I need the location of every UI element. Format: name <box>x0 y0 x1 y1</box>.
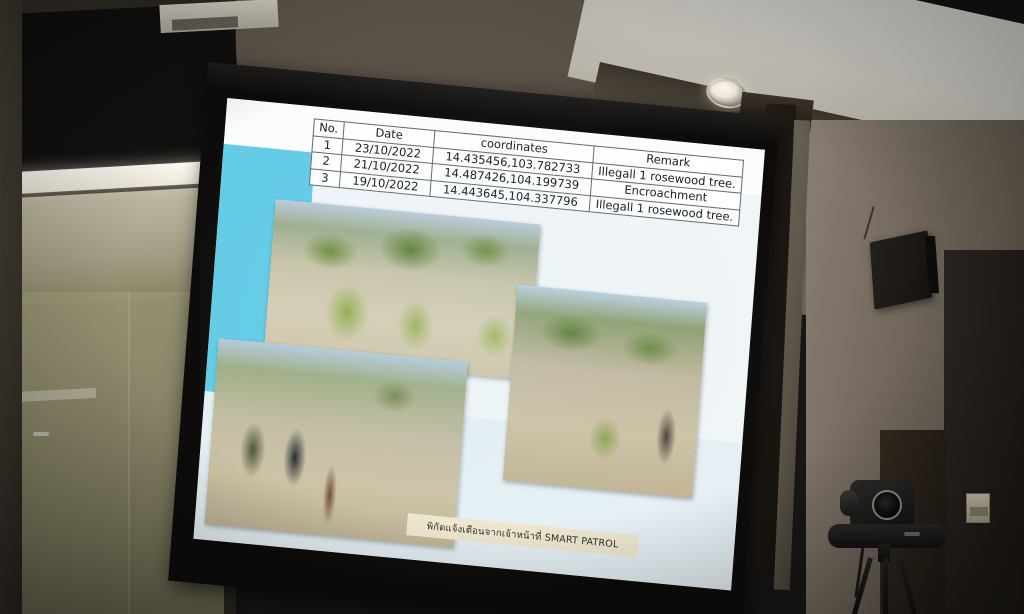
glass-panel-seam <box>128 292 130 614</box>
camera-lens-icon <box>872 490 902 520</box>
photo-felled-tree-right <box>503 285 707 499</box>
tripod-leg <box>852 557 873 614</box>
cell-no: 3 <box>309 168 340 187</box>
left-column <box>0 0 22 614</box>
presentation-slide: No. Date coordinates Remark 1 23/10/2022… <box>193 98 765 590</box>
camera-status-led <box>904 532 920 536</box>
conference-camera-rig <box>828 480 958 614</box>
projection-screen: No. Date coordinates Remark 1 23/10/2022… <box>168 62 779 614</box>
conference-room-photo: No. Date coordinates Remark 1 23/10/2022… <box>0 0 1024 614</box>
tripod-leg <box>898 557 917 614</box>
wall-speaker-icon <box>870 230 933 309</box>
glass-reflection <box>33 432 49 436</box>
light-switch-plate[interactable] <box>966 493 990 523</box>
camera-side-knob <box>840 490 858 516</box>
tripod-leg <box>883 558 888 614</box>
